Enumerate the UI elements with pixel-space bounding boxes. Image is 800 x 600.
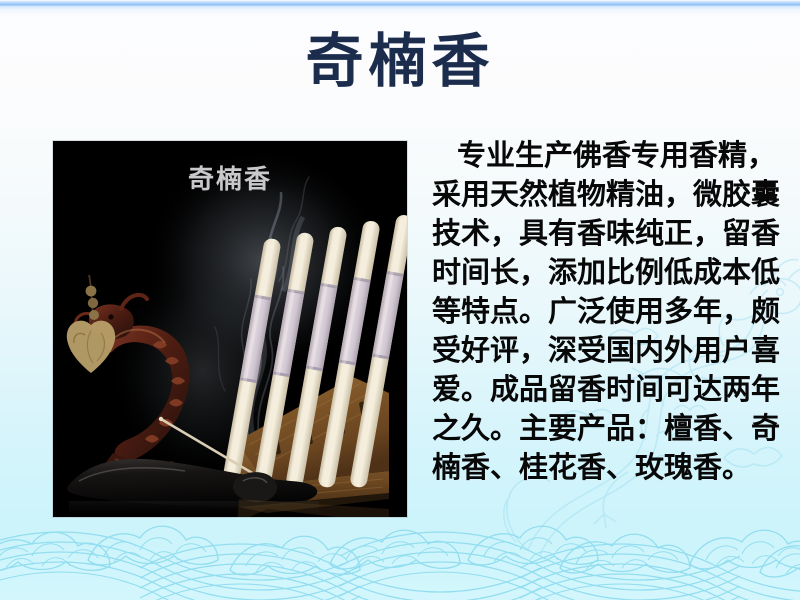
page-title: 奇楠香 bbox=[0, 30, 800, 94]
product-photo: 奇楠香 bbox=[53, 141, 407, 517]
product-description: 专业生产佛香专用香精，采用天然植物精油，微胶囊技术，具有香味纯正，留香时间长，添… bbox=[432, 136, 780, 487]
product-photo-caption: 奇楠香 bbox=[53, 159, 407, 196]
slide-canvas: 奇楠香 bbox=[0, 0, 800, 600]
incense-product-illustration bbox=[53, 141, 407, 517]
product-photo-scene bbox=[53, 141, 407, 517]
top-accent-band-fade bbox=[0, 6, 800, 16]
